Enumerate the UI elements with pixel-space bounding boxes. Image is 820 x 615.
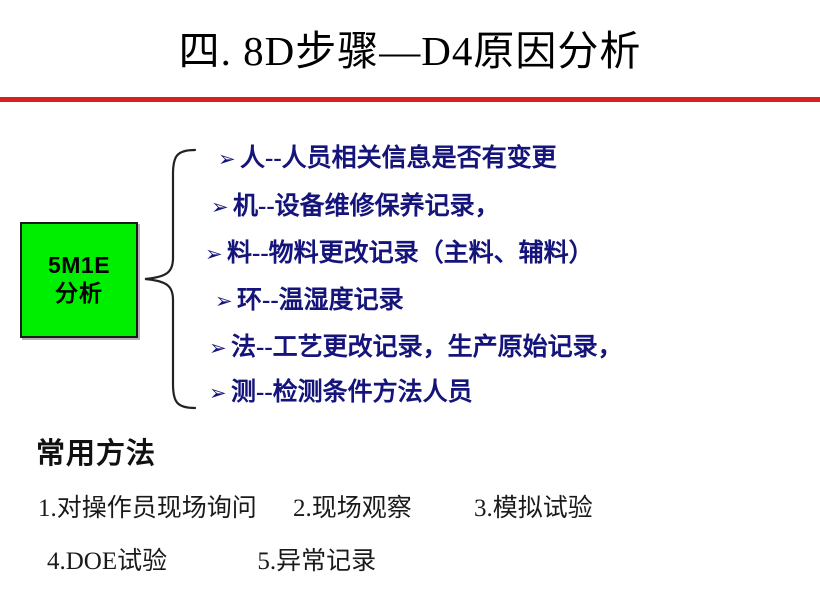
arrow-bullet-icon: ➢	[211, 192, 233, 223]
method-item: 1.对操作员现场询问	[38, 492, 257, 525]
slide-canvas: 四. 8D步骤—D4原因分析 5M1E 分析 ➢ 人--人员相关信息是否有变更 …	[0, 0, 820, 615]
5m1e-box-line1: 5M1E	[48, 251, 110, 279]
5m1e-box-line2: 分析	[55, 279, 103, 309]
arrow-bullet-icon: ➢	[218, 144, 240, 175]
list-item: ➢ 料--物料更改记录（主料、辅料）	[205, 238, 805, 270]
list-item-label: 人--人员相关信息是否有变更	[240, 143, 557, 174]
list-item-label: 料--物料更改记录（主料、辅料）	[227, 238, 594, 269]
methods-row-2: 4.DOE试验 5.异常记录	[47, 545, 376, 578]
list-item: ➢ 测--检测条件方法人员	[209, 377, 805, 409]
method-item: 5.异常记录	[257, 545, 376, 578]
method-item: 4.DOE试验	[47, 545, 167, 578]
arrow-bullet-icon: ➢	[215, 286, 237, 317]
list-item-label: 测--检测条件方法人员	[231, 377, 473, 408]
list-item: ➢ 人--人员相关信息是否有变更	[218, 143, 805, 175]
arrow-bullet-icon: ➢	[209, 333, 231, 364]
method-item: 2.现场观察	[293, 492, 412, 525]
list-item-label: 机--设备维修保养记录，	[233, 191, 500, 222]
list-item: ➢ 机--设备维修保养记录，	[211, 191, 805, 223]
arrow-bullet-icon: ➢	[205, 239, 227, 270]
cause-category-list: ➢ 人--人员相关信息是否有变更 ➢ 机--设备维修保养记录， ➢ 料--物料更…	[205, 143, 805, 409]
page-title: 四. 8D步骤—D4原因分析	[0, 24, 820, 78]
list-item: ➢ 环--温湿度记录	[215, 285, 805, 317]
list-item-label: 环--温湿度记录	[237, 285, 404, 316]
arrow-bullet-icon: ➢	[209, 378, 231, 409]
left-curly-brace-icon	[143, 148, 197, 410]
methods-row-1: 1.对操作员现场询问 2.现场观察 3.模拟试验	[38, 492, 593, 525]
5m1e-box: 5M1E 分析	[20, 222, 138, 338]
methods-heading: 常用方法	[36, 436, 156, 472]
list-item-label: 法--工艺更改记录，生产原始记录，	[231, 332, 623, 363]
method-item: 3.模拟试验	[474, 492, 593, 525]
list-item: ➢ 法--工艺更改记录，生产原始记录，	[209, 332, 805, 364]
title-divider-rule	[0, 97, 820, 102]
